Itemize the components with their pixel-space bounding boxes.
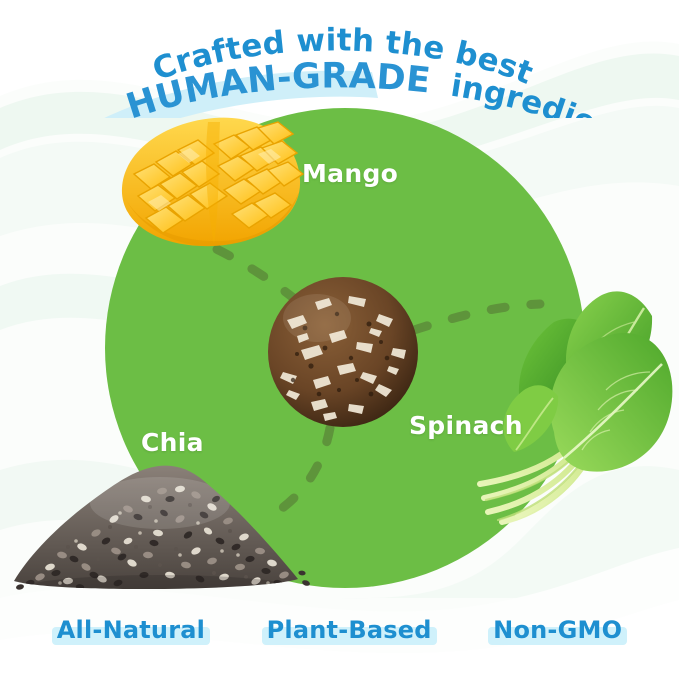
claim-non-gmo: Non-GMO <box>488 617 627 646</box>
ingredient-label-spinach: Spinach <box>409 411 523 440</box>
ingredient-label-chia: Chia <box>141 428 204 457</box>
infographic-canvas: Crafted with the best HUMAN-GRADE ingred… <box>0 0 679 679</box>
claim-label: All-Natural <box>57 618 205 643</box>
chia-seeds-image <box>10 455 320 595</box>
claim-label: Non-GMO <box>493 618 622 643</box>
claim-plant-based: Plant-Based <box>262 617 437 646</box>
claim-all-natural: All-Natural <box>52 617 210 646</box>
claims-row: All-Natural Plant-Based Non-GMO <box>0 609 679 655</box>
claim-label: Plant-Based <box>267 618 432 643</box>
mango-image <box>108 104 308 259</box>
energy-ball-image <box>253 262 433 442</box>
spinach-image <box>458 272 679 532</box>
ingredient-label-mango: Mango <box>302 159 398 188</box>
